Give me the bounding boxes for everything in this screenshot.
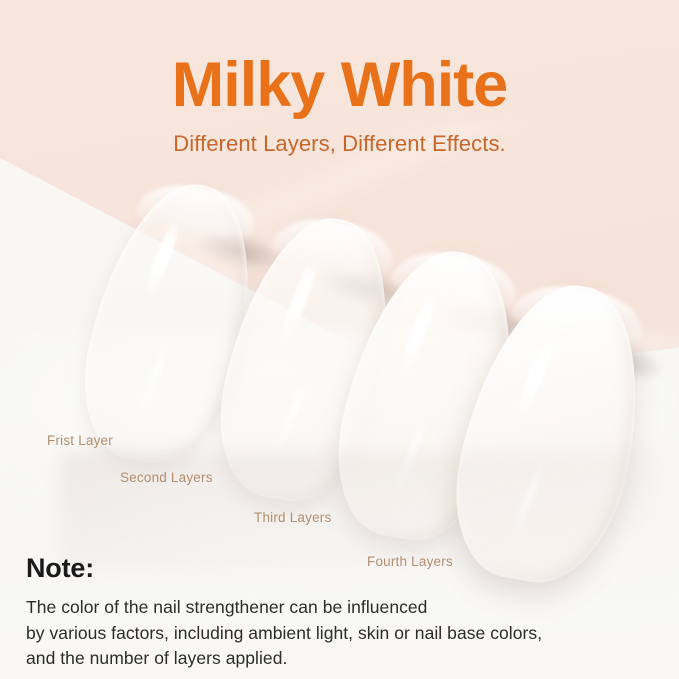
note-body-line-1: The color of the nail strengthener can b… (26, 595, 646, 621)
layer-label-second: Second Layers (120, 470, 213, 485)
note-body-line-2: by various factors, including ambient li… (26, 621, 646, 647)
layer-label-third: Third Layers (254, 510, 331, 525)
nail-gloss-streak-primary (140, 219, 184, 303)
nail-gloss-streak-primary (394, 290, 441, 382)
note-body-line-3: and the number of layers applied. (26, 646, 646, 672)
nail-gloss-streak-primary (511, 328, 560, 426)
nail-tip-shine (133, 178, 261, 243)
nail-tip-shine (269, 212, 399, 278)
nail-gloss-streak-secondary (134, 339, 173, 421)
page-title: Milky White (0, 54, 679, 117)
note-heading: Note: (26, 553, 646, 584)
nail-gloss-streak-secondary (271, 378, 310, 462)
page-subtitle: Different Layers, Different Effects. (0, 131, 679, 157)
product-poster: Milky White Different Layers, Different … (0, 0, 679, 679)
nail-gloss-streak-primary (276, 257, 321, 345)
note-section: Note: The color of the nail strengthener… (26, 553, 646, 672)
nail-tip-shine (508, 278, 650, 348)
layer-label-first: Frist Layer (47, 433, 113, 448)
nail-tip-shine (388, 244, 523, 312)
